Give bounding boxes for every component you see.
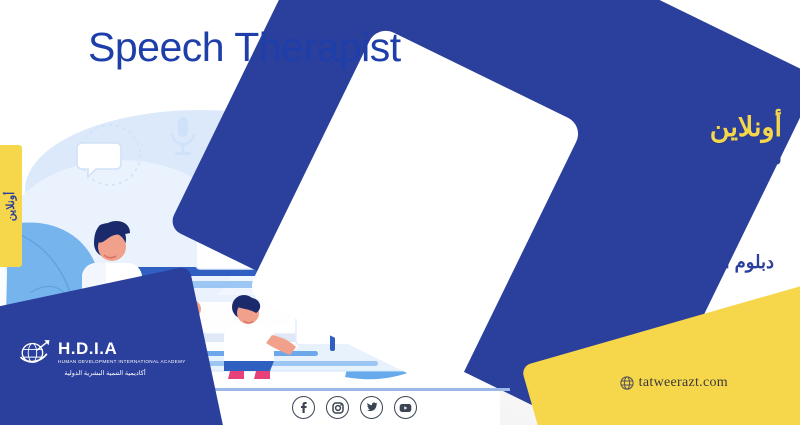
promo-subtitle: للتديب والاستشارات xyxy=(482,145,782,171)
promo-banner: aaaaa bbbbb ccccc xyxy=(0,0,800,425)
youtube-icon[interactable] xyxy=(394,396,417,419)
side-tab: أونلاين xyxy=(0,145,22,267)
page-title: Speech Therapist xyxy=(88,24,401,71)
logo-arabic-name: أكاديمية التنمية البشرية الدولية xyxy=(30,369,180,377)
globe-icon xyxy=(620,376,634,390)
promo-online-label: أونلاين xyxy=(482,112,782,143)
promo-diploma-title: دبلوم الإرشاد الاسري xyxy=(617,252,774,273)
bottom-divider xyxy=(180,388,510,391)
twitter-icon[interactable] xyxy=(360,396,383,419)
website-url: tatweerazt.com xyxy=(639,375,728,391)
instagram-icon[interactable] xyxy=(326,396,349,419)
logo-acronym: H.D.I.A xyxy=(58,340,186,357)
globe-arrow-icon xyxy=(18,338,52,366)
promo-text-block: أونلاين للتديب والاستشارات xyxy=(482,112,782,171)
academy-logo: H.D.I.A HUMAN DEVELOPMENT INTERNATIONAL … xyxy=(18,338,188,366)
social-links xyxy=(292,396,417,419)
logo-text: H.D.I.A HUMAN DEVELOPMENT INTERNATIONAL … xyxy=(58,340,186,364)
logo-full-name: HUMAN DEVELOPMENT INTERNATIONAL ACADEMY xyxy=(58,359,186,364)
website-link[interactable]: tatweerazt.com xyxy=(620,375,728,391)
facebook-icon[interactable] xyxy=(292,396,315,419)
side-tab-label: أونلاين xyxy=(5,191,18,220)
